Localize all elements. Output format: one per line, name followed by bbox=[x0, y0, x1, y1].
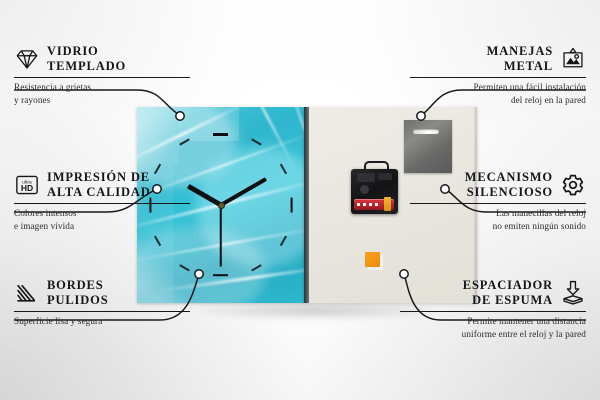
callout-desc-line1: Superficie lisa y segura bbox=[14, 315, 190, 328]
callout-desc-line2: uniforme entre el reloj y la pared bbox=[400, 328, 586, 341]
callout-desc-line1: Permiten una fácil instalación bbox=[410, 81, 586, 94]
clock-tick bbox=[290, 197, 292, 212]
callout-description: Resistencia a grietas y rayones bbox=[14, 81, 190, 106]
hanger-slot bbox=[413, 129, 439, 134]
callout-description: Permiten una fácil instalación del reloj… bbox=[410, 81, 586, 106]
callout-head: ESPACIADOR DE ESPUMA bbox=[400, 278, 586, 308]
callout-rule bbox=[14, 77, 190, 79]
callout-title-line2: TEMPLADO bbox=[47, 59, 190, 74]
clock-tick bbox=[179, 264, 189, 271]
gear-icon bbox=[560, 172, 586, 198]
callout-title-line1: MANEJAS bbox=[410, 44, 553, 59]
callout-title-line2: METAL bbox=[410, 59, 553, 74]
callout-desc-line1: Permite mantener una distancia bbox=[400, 315, 586, 328]
hand-h bbox=[186, 184, 221, 207]
clock-movement bbox=[351, 167, 398, 215]
clock-tick bbox=[213, 133, 228, 135]
callout-title-line1: BORDES bbox=[47, 278, 190, 293]
callout-rule bbox=[410, 77, 586, 79]
movement-tab bbox=[378, 173, 392, 180]
callout-impresion-alta-calidad[interactable]: ultra HD IMPRESIÓN DE ALTA CALIDAD Color… bbox=[14, 170, 190, 232]
callout-head: ultra HD IMPRESIÓN DE ALTA CALIDAD bbox=[14, 170, 190, 200]
movement-tab bbox=[357, 173, 375, 182]
clock-center-cap bbox=[218, 202, 225, 209]
callout-desc-line1: Resistencia a grietas bbox=[14, 81, 190, 94]
callout-mecanismo-silencioso[interactable]: MECANISMO SILENCIOSO Las manecillas del … bbox=[410, 170, 586, 232]
clock-tick bbox=[213, 274, 228, 276]
foam-spacer-arrow-icon bbox=[560, 280, 586, 306]
callout-head: VIDRIO TEMPLADO bbox=[14, 44, 190, 74]
foam-spacer bbox=[365, 252, 380, 267]
callout-description: Las manecillas del reloj no emiten ningú… bbox=[410, 207, 586, 232]
hand-m bbox=[219, 177, 266, 207]
callout-title-line2: ALTA CALIDAD bbox=[47, 185, 190, 200]
battery-terminal bbox=[384, 197, 391, 211]
ultra-hd-icon: ultra HD bbox=[14, 172, 40, 198]
callout-vidrio-templado[interactable]: VIDRIO TEMPLADO Resistencia a grietas y … bbox=[14, 44, 190, 106]
callout-title-line2: DE ESPUMA bbox=[400, 293, 553, 308]
callout-title-line1: IMPRESIÓN DE bbox=[47, 170, 190, 185]
callout-espaciador-de-espuma[interactable]: ESPACIADOR DE ESPUMA Permite mantener un… bbox=[400, 278, 586, 340]
infographic-canvas: VIDRIO TEMPLADO Resistencia a grietas y … bbox=[0, 0, 600, 400]
clock-tick bbox=[280, 164, 287, 174]
hand-s bbox=[220, 205, 222, 267]
metal-hanger-plate bbox=[404, 120, 452, 173]
callout-bordes-pulidos[interactable]: BORDES PULIDOS Superficie lisa y segura bbox=[14, 278, 190, 328]
svg-text:HD: HD bbox=[21, 183, 33, 193]
polished-edge-icon bbox=[14, 280, 40, 306]
callout-manejas-metal[interactable]: MANEJAS METAL Permiten una fácil instala… bbox=[410, 44, 586, 106]
movement-body bbox=[351, 169, 398, 214]
callout-rule bbox=[14, 311, 190, 313]
callout-title-line1: VIDRIO bbox=[47, 44, 190, 59]
callout-rule bbox=[410, 203, 586, 205]
callout-head: MECANISMO SILENCIOSO bbox=[410, 170, 586, 200]
movement-dial bbox=[360, 185, 369, 194]
callout-head: BORDES PULIDOS bbox=[14, 278, 190, 308]
callout-rule bbox=[14, 203, 190, 205]
callout-head: MANEJAS METAL bbox=[410, 44, 586, 74]
callout-title-line1: MECANISMO bbox=[410, 170, 553, 185]
clock-tick bbox=[154, 236, 161, 246]
callout-title-line2: PULIDOS bbox=[47, 293, 190, 308]
clock-tick bbox=[252, 264, 262, 271]
callout-title-line2: SILENCIOSO bbox=[410, 185, 553, 200]
clock-tick bbox=[179, 139, 189, 146]
clock-tick bbox=[280, 236, 287, 246]
diamond-icon bbox=[14, 46, 40, 72]
callout-description: Permite mantener una distancia uniforme … bbox=[400, 315, 586, 340]
picture-frame-hanging-icon bbox=[560, 46, 586, 72]
callout-title-line1: ESPACIADOR bbox=[400, 278, 553, 293]
callout-desc-line2: del reloj en la pared bbox=[410, 94, 586, 107]
clock-tick bbox=[252, 139, 262, 146]
callout-description: Colores intensos e imagen vívida bbox=[14, 207, 190, 232]
callout-desc-line1: Colores intensos bbox=[14, 207, 190, 220]
callout-description: Superficie lisa y segura bbox=[14, 315, 190, 328]
callout-desc-line1: Las manecillas del reloj bbox=[410, 207, 586, 220]
callout-rule bbox=[400, 311, 586, 313]
callout-desc-line2: y rayones bbox=[14, 94, 190, 107]
callout-desc-line2: no emiten ningún sonido bbox=[410, 220, 586, 233]
callout-desc-line2: e imagen vívida bbox=[14, 220, 190, 233]
